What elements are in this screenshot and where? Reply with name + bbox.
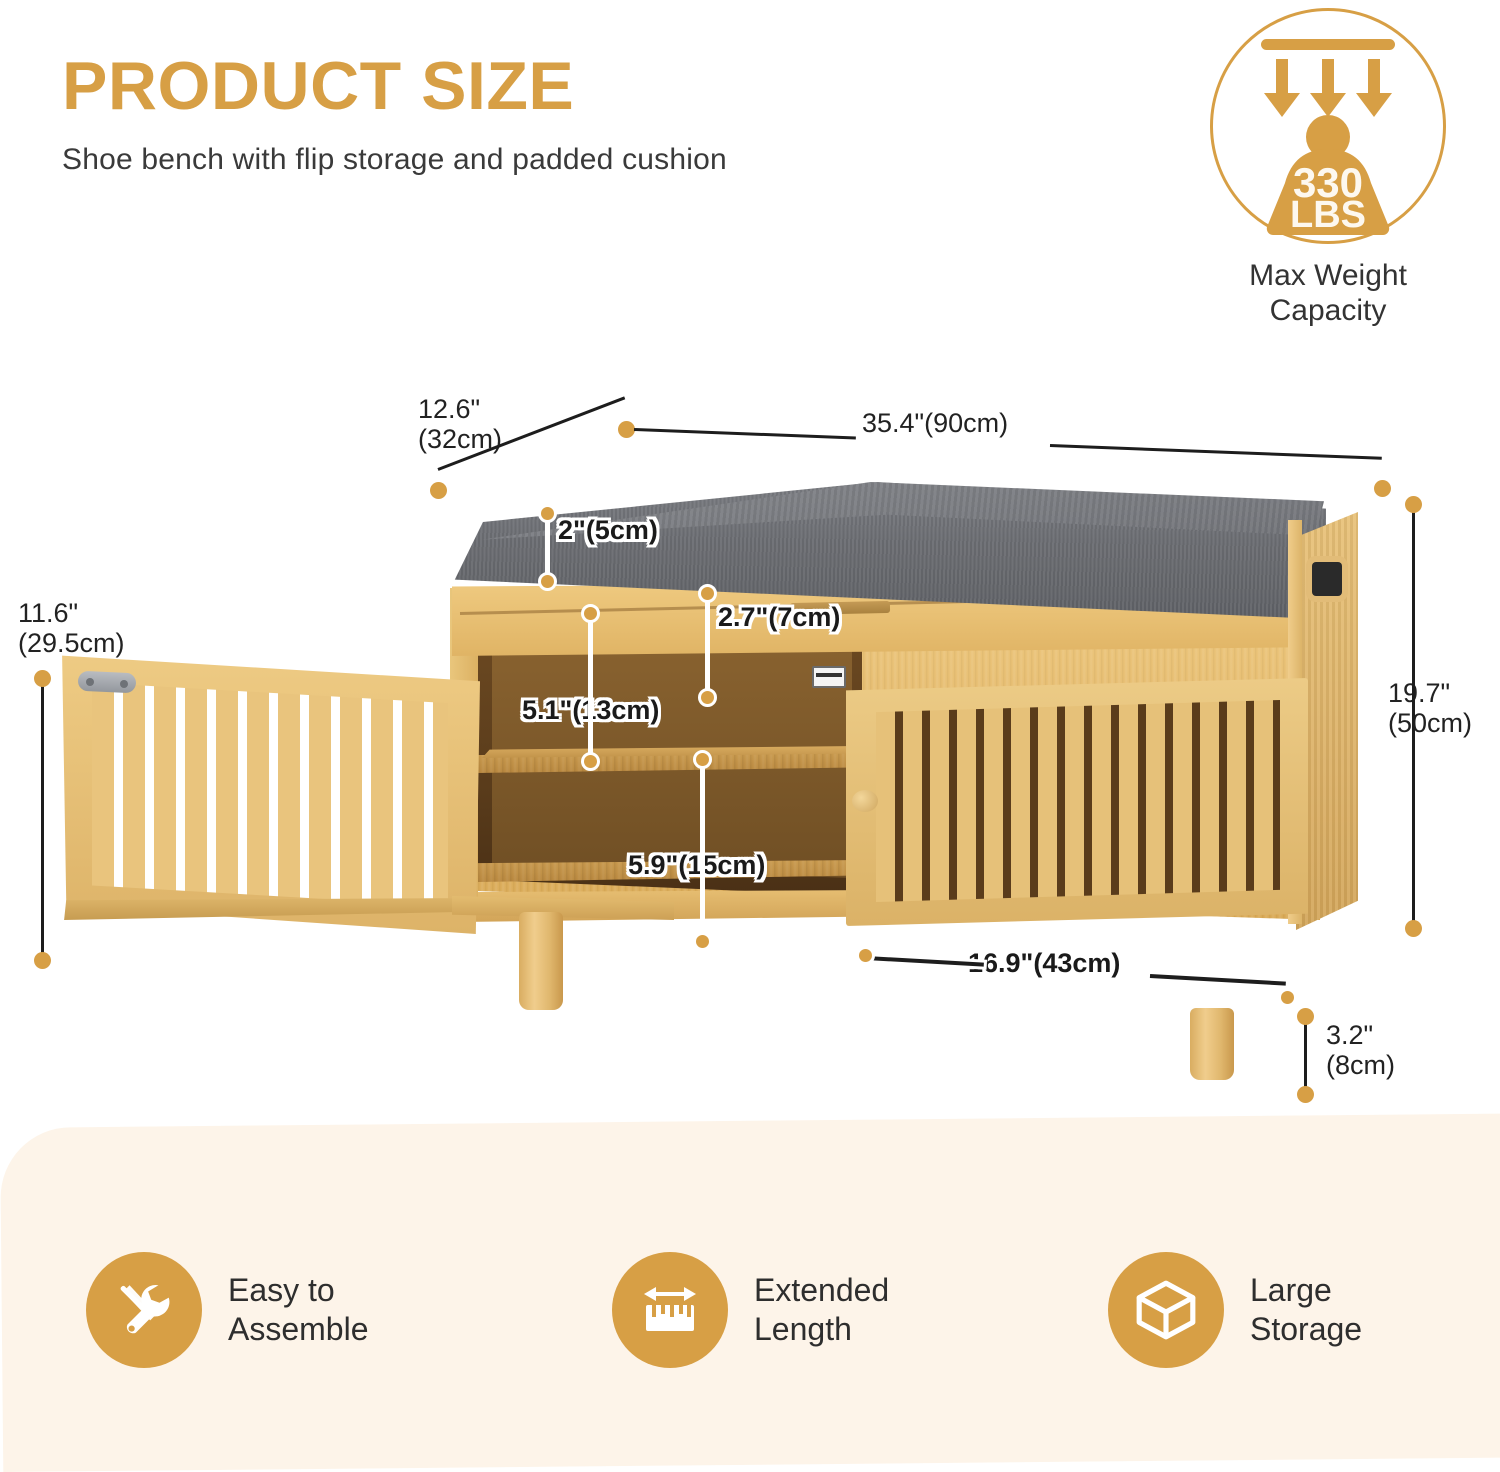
dot-width-end — [1374, 480, 1391, 497]
latch-stripe — [816, 673, 842, 677]
feature-2-line1: Extended — [754, 1271, 889, 1310]
feature-3-line1: Large — [1250, 1271, 1362, 1310]
feature-label-3: Large Storage — [1250, 1271, 1362, 1349]
max-weight-capacity-badge: 330 LBS Max Weight Capacity — [1178, 8, 1478, 329]
dot-cushion-bottom — [538, 572, 557, 591]
leader-width-right — [1050, 444, 1382, 460]
dim-door-height: 11.6" (29.5cm) — [18, 598, 125, 658]
dim-depth: 12.6" (32cm) — [418, 394, 502, 454]
leader-door-height — [41, 678, 44, 960]
dim-lower-shelf-line1: 5.9"(15cm) — [628, 850, 765, 880]
dim-cushion: 2"(5cm) — [558, 515, 658, 545]
dot-upper-bottom — [581, 752, 600, 771]
dim-total-height-line1: 19.7" — [1388, 678, 1472, 708]
dim-door-width-line1: 16.9"(43cm) — [968, 948, 1120, 978]
leader-door-width-right — [1150, 974, 1286, 986]
leader-width-left — [634, 428, 856, 440]
dim-width: 35.4"(90cm) — [862, 408, 1008, 438]
dim-door-width: 16.9"(43cm) — [968, 948, 1120, 978]
feature-1-line2: Assemble — [228, 1310, 369, 1349]
leader-upper-shelf — [588, 612, 593, 762]
dot-cushion-top — [538, 504, 557, 523]
feature-extended-length: Extended Length — [612, 1252, 1092, 1368]
bench-leg-front-right — [1190, 1008, 1234, 1080]
box-icon — [1133, 1277, 1199, 1343]
dot-depth-end — [618, 421, 635, 438]
feature-2-line2: Length — [754, 1310, 889, 1349]
cut-out-handle — [1312, 562, 1342, 596]
feature-easy-to-assemble: Easy to Assemble — [86, 1252, 586, 1368]
badge-circle: 330 LBS — [1210, 8, 1446, 244]
ruler-icon — [638, 1279, 702, 1341]
dim-leg-height-line1: 3.2" — [1326, 1020, 1395, 1050]
hinge-screw-right — [120, 680, 128, 688]
dot-lower-bottom — [693, 932, 712, 951]
dot-depth-start — [430, 482, 447, 499]
dot-total-top — [1405, 496, 1422, 513]
dim-total-height: 19.7" (50cm) — [1388, 678, 1472, 738]
dot-flip-top — [698, 584, 717, 603]
badge-label-line1: Max Weight — [1178, 258, 1478, 293]
page-title: PRODUCT SIZE — [62, 52, 1062, 120]
dim-leg-height-line2: (8cm) — [1326, 1050, 1395, 1080]
leader-leg-height — [1304, 1016, 1307, 1094]
dot-door-height-bottom — [34, 952, 51, 969]
dim-lower-shelf: 5.9"(15cm) — [628, 850, 765, 880]
dim-total-height-line2: (50cm) — [1388, 708, 1472, 738]
dot-door-width-left — [856, 946, 875, 965]
dot-door-height-top — [34, 670, 51, 687]
badge-unit: LBS — [1290, 194, 1366, 236]
dim-leg-height: 3.2" (8cm) — [1326, 1020, 1395, 1080]
feature-icon-circle-1 — [86, 1252, 202, 1368]
feature-icon-circle-2 — [612, 1252, 728, 1368]
magnet-latch — [812, 666, 846, 688]
dot-flip-bottom — [698, 688, 717, 707]
dot-upper-top — [581, 604, 600, 623]
leader-door-width-left — [866, 956, 984, 967]
bench-leg-front-left — [519, 912, 563, 1010]
dim-flip-drawer-line1: 2.7"(7cm) — [718, 602, 840, 632]
dot-lower-top — [693, 750, 712, 769]
dim-depth-line1: 12.6" — [418, 394, 502, 424]
feature-large-storage: Large Storage — [1108, 1252, 1498, 1368]
feature-3-line2: Storage — [1250, 1310, 1362, 1349]
hinge-screw-left — [86, 678, 94, 686]
leader-flip-drawer — [705, 592, 710, 698]
dim-width-line1: 35.4"(90cm) — [862, 408, 1008, 438]
leader-lower-shelf — [700, 758, 705, 948]
feature-1-line1: Easy to — [228, 1271, 369, 1310]
dim-flip-drawer: 2.7"(7cm) — [718, 602, 840, 632]
open-door-slat-panel — [92, 678, 448, 906]
tools-icon — [111, 1277, 177, 1343]
leader-total-height — [1412, 504, 1415, 928]
header: PRODUCT SIZE Shoe bench with flip storag… — [62, 52, 1062, 178]
feature-icon-circle-3 — [1108, 1252, 1224, 1368]
feature-label-2: Extended Length — [754, 1271, 889, 1349]
product-diagram: 12.6" (32cm) 35.4"(90cm) 2"(5cm) 2.7"(7c… — [0, 360, 1500, 1120]
dot-leg-top — [1297, 1008, 1314, 1025]
feature-list: Easy to Assemble — [0, 1252, 1500, 1422]
dot-leg-bottom — [1297, 1086, 1314, 1103]
door-knob[interactable] — [852, 790, 878, 812]
dim-door-height-line2: (29.5cm) — [18, 628, 125, 658]
feature-label-1: Easy to Assemble — [228, 1271, 369, 1349]
door-slat-panel — [876, 700, 1280, 902]
dim-cushion-line1: 2"(5cm) — [558, 515, 658, 545]
badge-label-line2: Capacity — [1178, 293, 1478, 328]
badge-label: Max Weight Capacity — [1178, 258, 1478, 329]
dim-door-height-line1: 11.6" — [18, 598, 125, 628]
page-subtitle: Shoe bench with flip storage and padded … — [62, 142, 1062, 178]
dot-door-width-right — [1278, 988, 1297, 1007]
weight-capacity-icon: 330 LBS — [1213, 11, 1443, 241]
dot-total-bottom — [1405, 920, 1422, 937]
